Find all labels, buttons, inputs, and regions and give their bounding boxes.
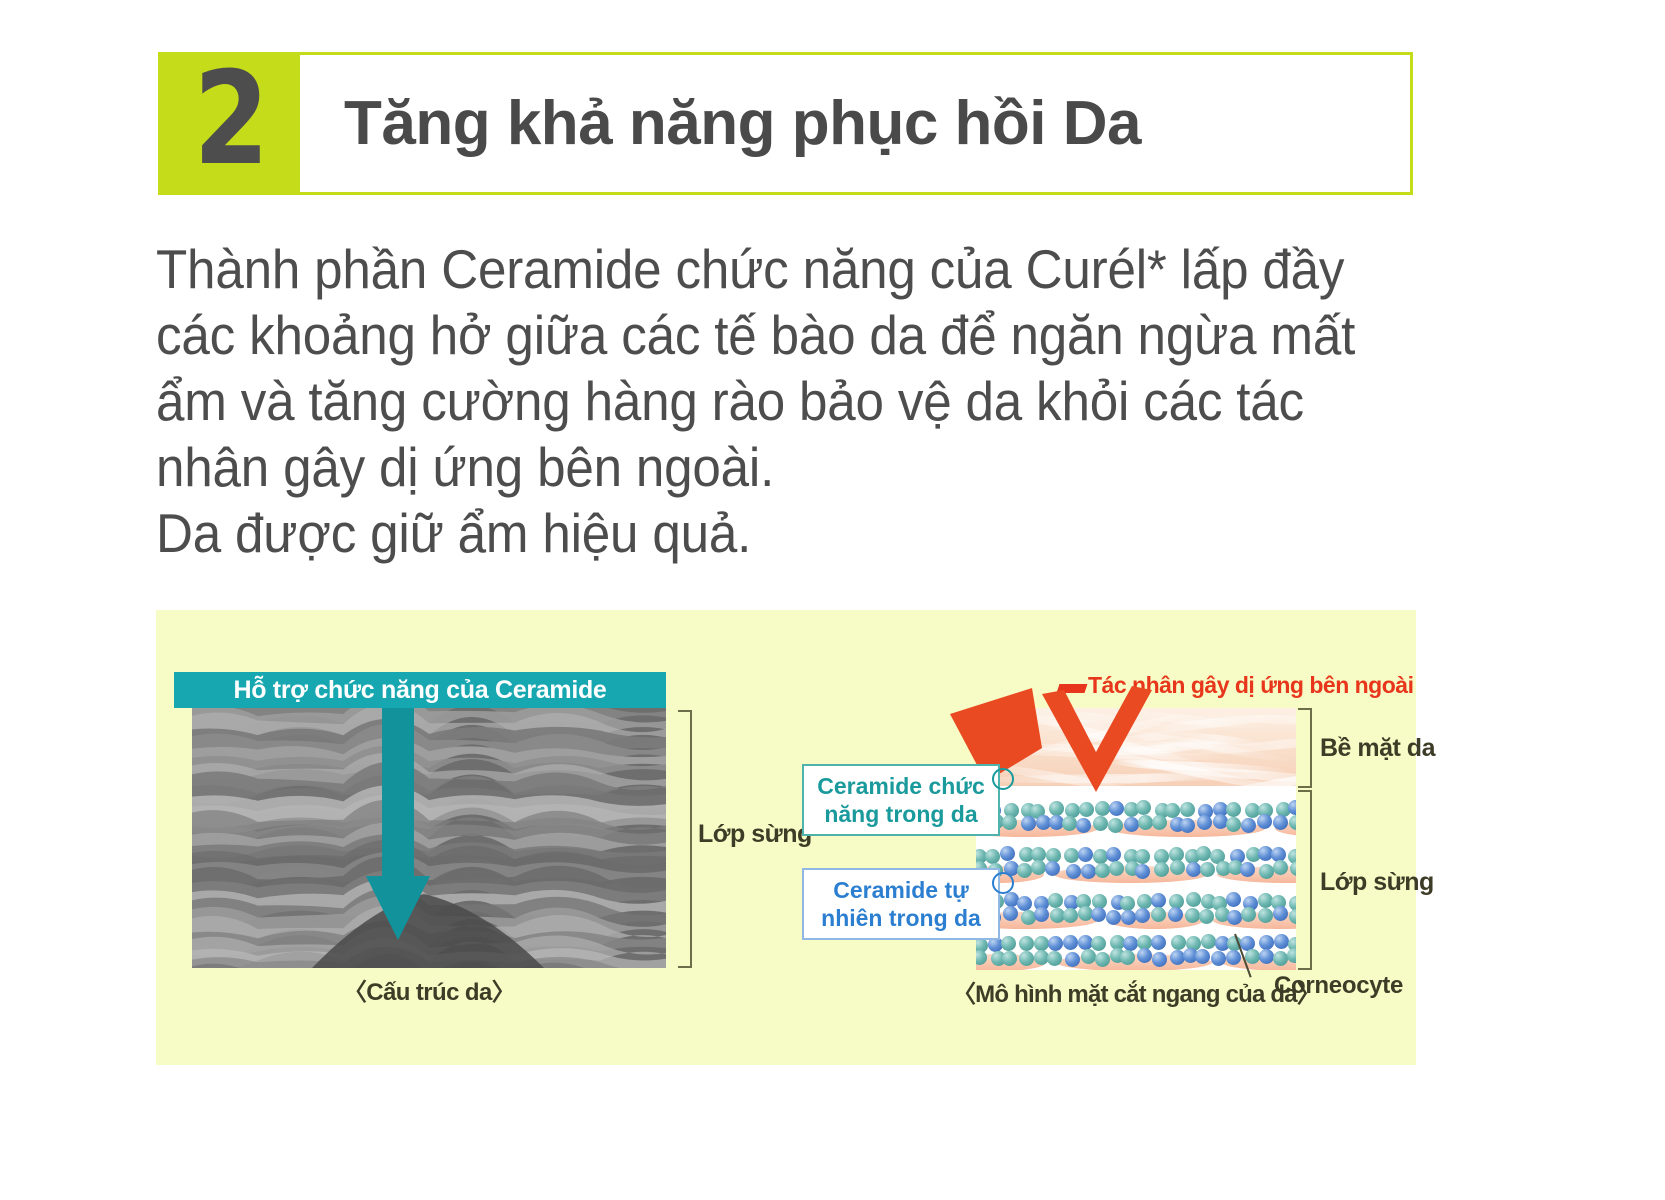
functional-ceramide-bead: [1199, 909, 1214, 924]
callout-natural-marker: [992, 872, 1014, 894]
natural-ceramide-bead: [1226, 892, 1241, 907]
functional-ceramide-bead: [1135, 849, 1150, 864]
natural-ceramide-bead: [1227, 910, 1242, 925]
natural-ceramide-bead: [1065, 952, 1080, 967]
functional-ceramide-bead: [1185, 908, 1200, 923]
section-header: 2 Tăng khả năng phục hồi Da: [158, 52, 1413, 195]
natural-ceramide-bead: [1135, 908, 1150, 923]
functional-ceramide-bead: [1138, 815, 1153, 830]
natural-ceramide-bead: [1121, 910, 1136, 925]
functional-ceramide-bead: [1171, 935, 1186, 950]
natural-ceramide-bead: [1017, 896, 1032, 911]
functional-ceramide-bead: [1031, 860, 1046, 875]
functional-ceramide-bead: [1245, 949, 1260, 964]
natural-ceramide-bead: [1152, 952, 1167, 967]
natural-ceramide-bead: [1076, 818, 1091, 833]
natural-ceramide-bead: [1151, 935, 1166, 950]
functional-ceramide-bead: [1063, 908, 1078, 923]
natural-ceramide-bead: [1066, 864, 1081, 879]
natural-ceramide-bead: [1186, 862, 1201, 877]
functional-ceramide-bead: [1019, 936, 1034, 951]
functional-ceramide-bead: [1109, 861, 1124, 876]
functional-ceramide-bead: [1196, 846, 1211, 861]
left-figure: Hỗ trợ chức năng của Ceramide Lớp sừng 〈…: [174, 672, 699, 1002]
functional-ceramide-bead: [1273, 951, 1288, 966]
functional-ceramide-bead: [1120, 950, 1135, 965]
functional-ceramide-bead: [1091, 936, 1106, 951]
functional-ceramide-bead: [1064, 848, 1079, 863]
natural-ceramide-bead: [1197, 815, 1212, 830]
right-figure-caption: 〈Mô hình mặt cắt ngang của da〉: [926, 974, 1346, 1009]
functional-ceramide-bead: [1151, 907, 1166, 922]
body-line-1: Thành phần Ceramide chức năng của Curél*…: [156, 236, 1356, 302]
stratum-corneum-label: Lớp sừng: [698, 820, 812, 849]
functional-ceramide-bead: [1002, 815, 1017, 830]
body-line-4: nhân gây dị ứng bên ngoài.: [156, 434, 1356, 500]
natural-ceramide-bead: [1259, 935, 1274, 950]
functional-ceramide-bead: [985, 849, 1000, 864]
functional-ceramide-bead: [1093, 816, 1108, 831]
functional-ceramide-bead: [1245, 803, 1260, 818]
functional-ceramide-bead: [1226, 802, 1241, 817]
section-number: 2: [193, 56, 267, 184]
functional-ceramide-bead: [1137, 894, 1152, 909]
ceramide-support-banner: Hỗ trợ chức năng của Ceramide: [174, 672, 666, 708]
natural-ceramide-bead: [1257, 814, 1272, 829]
functional-ceramide-bead: [1180, 802, 1195, 817]
functional-ceramide-bead: [1120, 896, 1135, 911]
functional-ceramide-bead: [1289, 909, 1296, 924]
functional-ceramide-bead: [1048, 893, 1063, 908]
section-number-badge: 2: [161, 55, 300, 192]
natural-ceramide-bead: [1000, 846, 1015, 861]
body-paragraph: Thành phần Ceramide chức năng của Curél*…: [156, 236, 1446, 566]
functional-ceramide-bead: [1154, 862, 1169, 877]
page-title: Tăng khả năng phục hồi Da: [300, 55, 1410, 192]
natural-ceramide-bead: [1258, 846, 1273, 861]
figure-panel: Hỗ trợ chức năng của Ceramide Lớp sừng 〈…: [156, 610, 1416, 1065]
functional-ceramide-bead: [1081, 949, 1096, 964]
natural-ceramide-bead: [1106, 847, 1121, 862]
natural-ceramide-bead: [1091, 907, 1106, 922]
natural-ceramide-bead: [1034, 907, 1049, 922]
natural-ceramide-bead: [1048, 936, 1063, 951]
teal-down-arrow-icon: [366, 700, 430, 940]
functional-ceramide-bead: [1259, 864, 1274, 879]
functional-ceramide-bead: [1290, 861, 1296, 876]
natural-ceramide-bead: [1274, 934, 1289, 949]
functional-ceramide-bead: [1034, 936, 1049, 951]
functional-ceramide-bead: [1062, 816, 1077, 831]
natural-ceramide-bead: [1180, 818, 1195, 833]
functional-ceramide-bead: [1001, 936, 1016, 951]
left-figure-caption: 〈Cấu trúc da〉: [192, 972, 666, 1007]
skin-surface-label: Bề mặt da: [1320, 734, 1435, 763]
corneum-bracket: [1298, 790, 1312, 970]
functional-ceramide-bead: [1108, 818, 1123, 833]
functional-ceramide-bead: [1047, 951, 1062, 966]
skin-surface-bracket: [1298, 708, 1312, 788]
body-line-3: ẩm và tăng cường hàng rào bảo vệ da khỏi…: [156, 368, 1356, 434]
functional-ceramide-bead: [1095, 863, 1110, 878]
natural-ceramide-bead: [1124, 817, 1139, 832]
right-figure: Tác nhân gây dị ứng bên ngoài Ceramide c…: [796, 672, 1406, 1032]
stratum-corneum-bracket: [678, 710, 692, 968]
body-line-5: Da được giữ ẩm hiệu quả.: [156, 500, 1356, 566]
natural-ceramide-bead: [1021, 816, 1036, 831]
functional-ceramide-bead: [1186, 892, 1201, 907]
callout-functional-ceramide: Ceramide chức năng trong da: [802, 764, 1000, 836]
functional-ceramide-bead: [1095, 952, 1110, 967]
functional-ceramide-bead: [1200, 862, 1215, 877]
functional-ceramide-bead: [1017, 863, 1032, 878]
functional-ceramide-bead: [1201, 934, 1216, 949]
body-line-2: các khoảng hở giữa các tế bào da để ngăn…: [156, 302, 1356, 368]
natural-ceramide-bead: [1081, 864, 1096, 879]
callout-natural-ceramide: Ceramide tự nhiên trong da: [802, 868, 1000, 940]
callout-functional-marker: [992, 768, 1014, 790]
functional-ceramide-bead: [1241, 907, 1256, 922]
corneum-label: Lớp sừng: [1320, 868, 1434, 897]
natural-ceramide-bead: [1063, 935, 1078, 950]
natural-ceramide-bead: [1078, 847, 1093, 862]
natural-ceramide-bead: [1151, 893, 1166, 908]
natural-ceramide-bead: [1135, 864, 1150, 879]
